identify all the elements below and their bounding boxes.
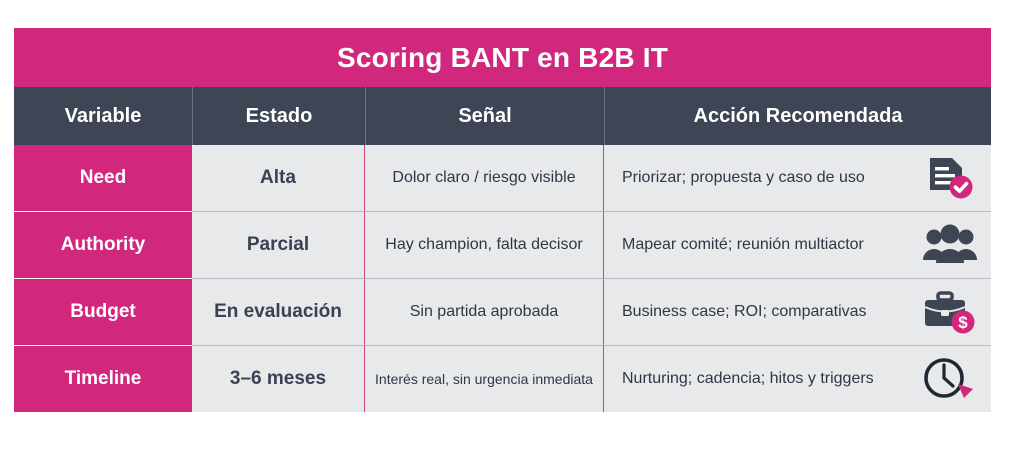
cell-senal: Hay champion, falta decisor (365, 212, 604, 278)
cell-accion: Business case; ROI; comparativas $ (604, 279, 991, 345)
cell-accion-text: Nurturing; cadencia; hitos y triggers (622, 370, 909, 388)
cell-accion-text: Mapear comité; reunión multiactor (622, 236, 909, 254)
document-check-icon (919, 154, 981, 202)
column-header-accion-recomendada: Acción Recomendada (604, 87, 991, 145)
bant-scoring-table: Scoring BANT en B2B IT Variable Estado S… (14, 28, 991, 412)
people-group-icon (919, 223, 981, 267)
cell-variable: Timeline (14, 345, 192, 412)
table-row: Timeline 3–6 meses Interés real, sin urg… (14, 345, 991, 412)
table-body: Need Alta Dolor claro / riesgo visible P… (14, 145, 991, 412)
cell-estado: Parcial (192, 212, 365, 278)
cell-senal: Interés real, sin urgencia inmediata (365, 346, 604, 412)
column-header-variable: Variable (14, 87, 192, 145)
cell-estado: Alta (192, 145, 365, 211)
cell-accion: Nurturing; cadencia; hitos y triggers (604, 346, 991, 412)
page-title: Scoring BANT en B2B IT (337, 44, 668, 72)
cell-senal: Sin partida aprobada (365, 279, 604, 345)
cell-senal: Dolor claro / riesgo visible (365, 145, 604, 211)
column-header-estado: Estado (192, 87, 365, 145)
cell-variable: Authority (14, 211, 192, 278)
table-title-banner: Scoring BANT en B2B IT (14, 28, 991, 87)
briefcase-dollar-icon: $ (919, 289, 981, 335)
table-row: Budget En evaluación Sin partida aprobad… (14, 278, 991, 345)
column-header-senal: Señal (365, 87, 604, 145)
table-row: Authority Parcial Hay champion, falta de… (14, 211, 991, 278)
cell-accion: Priorizar; propuesta y caso de uso (604, 145, 991, 211)
cell-variable: Need (14, 145, 192, 211)
svg-text:$: $ (958, 313, 968, 332)
cell-estado: En evaluación (192, 279, 365, 345)
cell-accion-text: Priorizar; propuesta y caso de uso (622, 169, 909, 187)
table-row: Need Alta Dolor claro / riesgo visible P… (14, 145, 991, 211)
clock-arrow-icon (919, 356, 981, 402)
cell-variable: Budget (14, 278, 192, 345)
table-header-row: Variable Estado Señal Acción Recomendada (14, 87, 991, 145)
cell-accion: Mapear comité; reunión multiactor (604, 212, 991, 278)
cell-accion-text: Business case; ROI; comparativas (622, 303, 909, 321)
cell-estado: 3–6 meses (192, 346, 365, 412)
